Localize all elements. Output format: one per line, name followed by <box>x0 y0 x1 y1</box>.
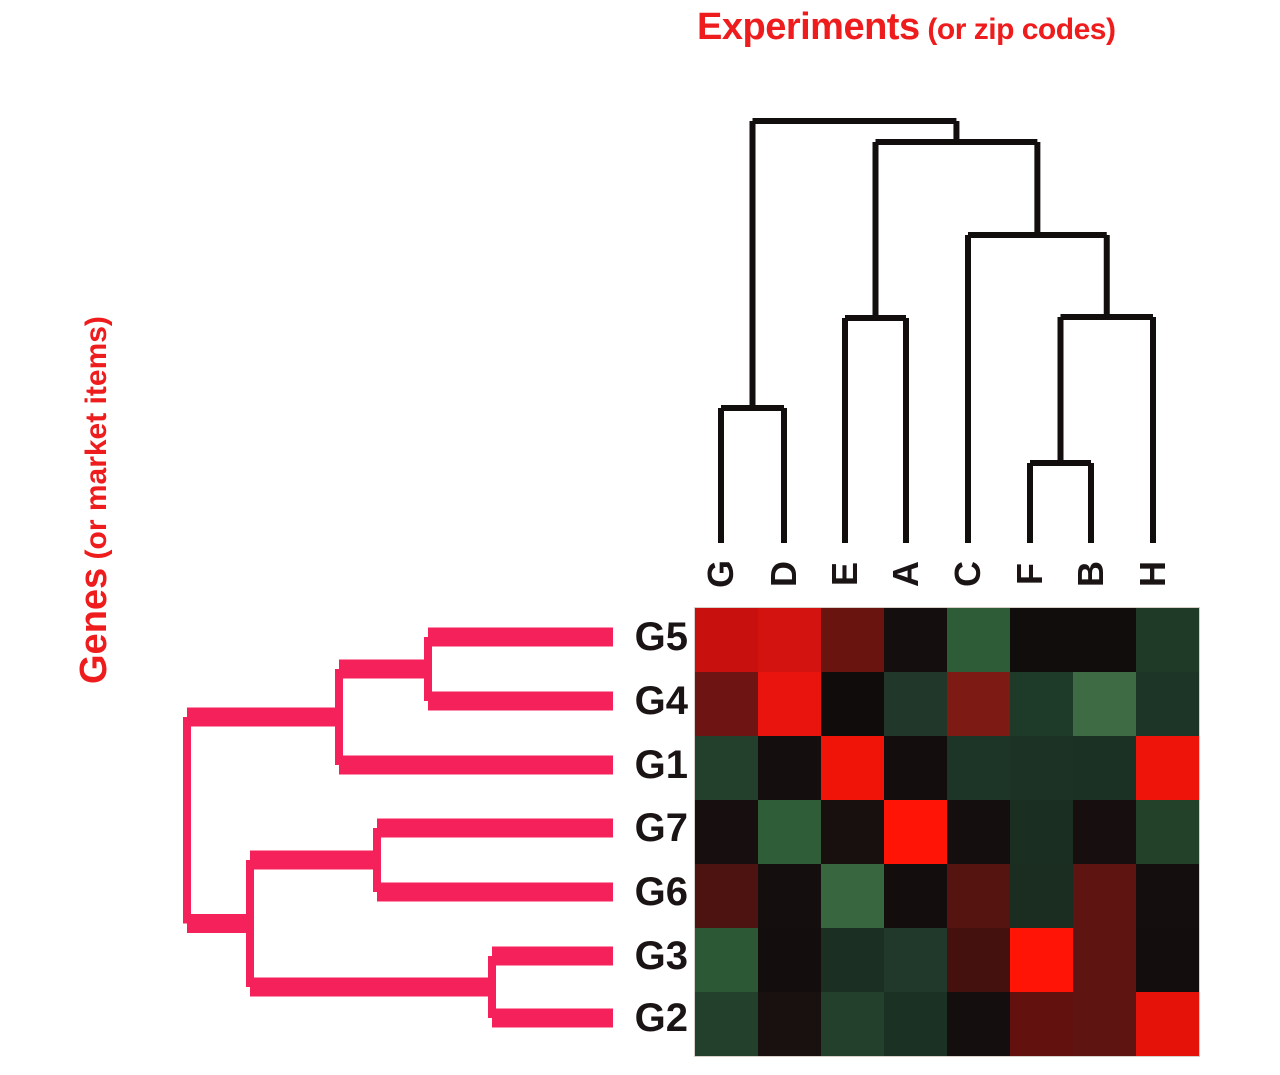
heatmap-cell <box>947 992 1010 1056</box>
column-label-a: A <box>886 547 926 601</box>
heatmap-cell <box>884 800 947 864</box>
heatmap-cell <box>947 736 1010 800</box>
heatmap-cell <box>695 736 758 800</box>
heatmap-cell <box>884 672 947 736</box>
heatmap-cell <box>1136 608 1199 672</box>
heatmap-grid <box>695 608 1199 1056</box>
row-label-g7: G7 <box>614 805 688 851</box>
column-label-b: B <box>1071 547 1111 601</box>
column-label-g: G <box>701 547 741 601</box>
heatmap-cell <box>758 800 821 864</box>
heatmap-cell <box>1136 736 1199 800</box>
heatmap-cell <box>821 992 884 1056</box>
heatmap-cell <box>1136 672 1199 736</box>
heatmap-cell <box>1010 992 1073 1056</box>
row-label-g4: G4 <box>614 678 688 724</box>
heatmap-cell <box>821 672 884 736</box>
heatmap-cell <box>758 608 821 672</box>
heatmap-cell <box>821 736 884 800</box>
heatmap-cell <box>1073 864 1136 928</box>
heatmap-cell <box>758 672 821 736</box>
column-label-d: D <box>764 547 804 601</box>
row-label-g5: G5 <box>614 614 688 660</box>
column-label-e: E <box>825 547 865 601</box>
gene-dendrogram <box>0 0 700 1075</box>
heatmap-cell <box>1073 800 1136 864</box>
heatmap-cell <box>821 928 884 992</box>
heatmap-cell <box>1010 800 1073 864</box>
heatmap-cell <box>821 800 884 864</box>
heatmap-cell <box>1136 992 1199 1056</box>
heatmap-cell <box>884 928 947 992</box>
heatmap-cell <box>947 928 1010 992</box>
heatmap-cell <box>1136 800 1199 864</box>
heatmap-cell <box>1136 928 1199 992</box>
heatmap-cell <box>947 864 1010 928</box>
heatmap-cell <box>884 992 947 1056</box>
heatmap-cell <box>1073 928 1136 992</box>
heatmap-cell <box>884 736 947 800</box>
heatmap-cell <box>1010 928 1073 992</box>
heatmap-cell <box>695 864 758 928</box>
heatmap-cell <box>947 608 1010 672</box>
heatmap-cell <box>695 608 758 672</box>
heatmap-cell <box>884 608 947 672</box>
row-label-g3: G3 <box>614 933 688 979</box>
heatmap-cell <box>947 672 1010 736</box>
heatmap-cell <box>758 928 821 992</box>
heatmap-cell <box>947 800 1010 864</box>
heatmap-cell <box>1073 736 1136 800</box>
heatmap-cell <box>695 800 758 864</box>
column-label-c: C <box>948 547 988 601</box>
heatmap-cell <box>695 672 758 736</box>
heatmap-cell <box>1010 672 1073 736</box>
row-label-g1: G1 <box>614 742 688 788</box>
row-label-g2: G2 <box>614 995 688 1041</box>
heatmap-cell <box>1073 608 1136 672</box>
heatmap-cell <box>695 928 758 992</box>
heatmap-cell <box>1136 864 1199 928</box>
heatmap-cell <box>695 992 758 1056</box>
heatmap-cell <box>821 864 884 928</box>
heatmap-cell <box>1010 608 1073 672</box>
heatmap-cell <box>1073 992 1136 1056</box>
figure-canvas: Experiments (or zip codes) Genes (or mar… <box>0 0 1280 1075</box>
heatmap-cell <box>1010 736 1073 800</box>
heatmap-cell <box>884 864 947 928</box>
heatmap-cell <box>758 992 821 1056</box>
column-label-f: F <box>1010 547 1050 601</box>
heatmap-cell <box>821 608 884 672</box>
heatmap-cell <box>758 736 821 800</box>
heatmap-cell <box>1073 672 1136 736</box>
row-label-g6: G6 <box>614 869 688 915</box>
heatmap-cell <box>1010 864 1073 928</box>
heatmap-cell <box>758 864 821 928</box>
column-label-h: H <box>1133 547 1173 601</box>
